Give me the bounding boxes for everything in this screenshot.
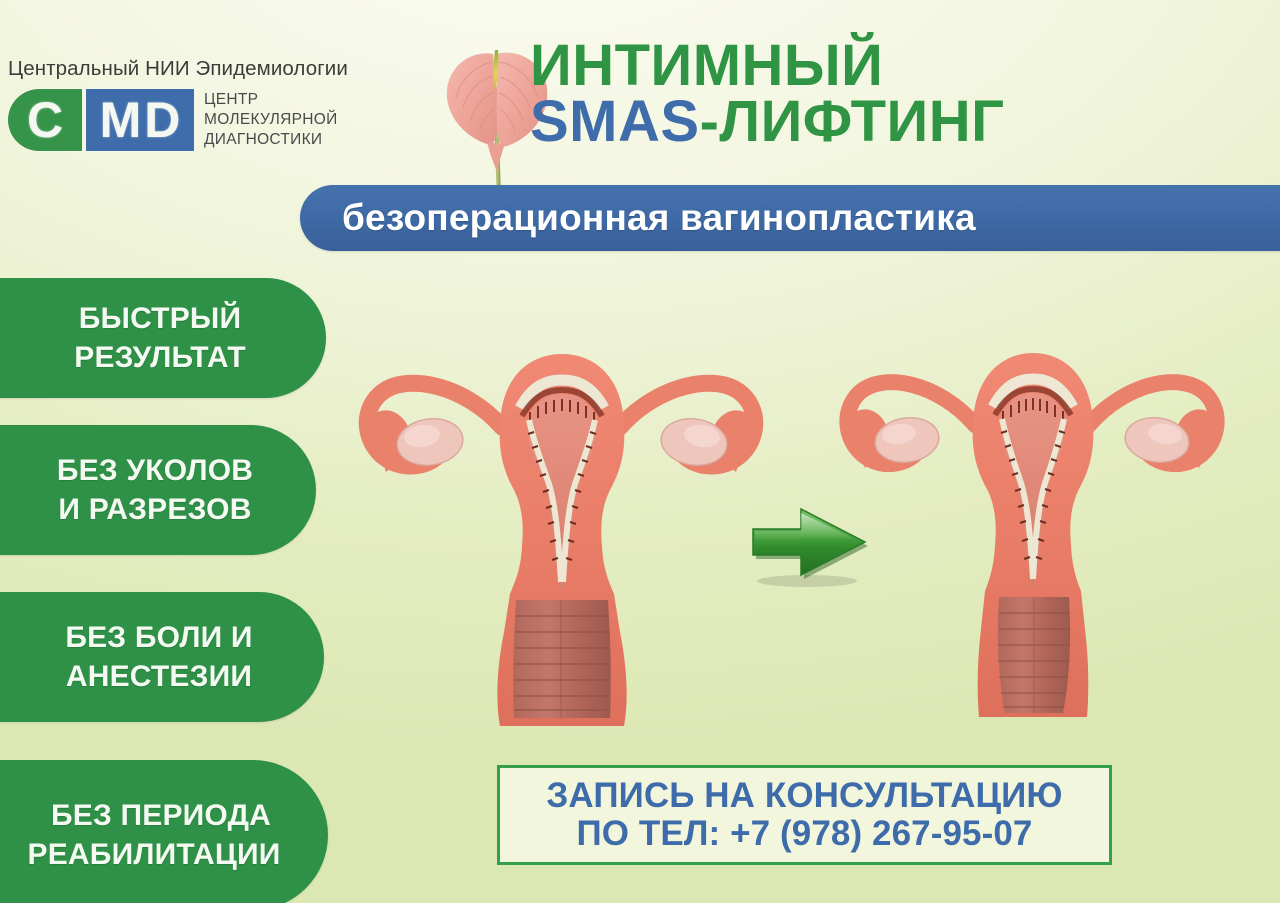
subtitle-banner-label: безоперационная вагинопластика bbox=[342, 197, 976, 239]
benefit-line: И РАЗРЕЗОВ bbox=[58, 490, 251, 529]
cmd-subtitle: ЦЕНТР МОЛЕКУЛЯРНОЙ ДИАГНОСТИКИ bbox=[204, 90, 338, 149]
cmd-logo-c-block: C bbox=[8, 89, 82, 151]
benefit-line: БЫСТРЫЙ bbox=[79, 299, 242, 338]
cmd-logo-mark: C M D bbox=[8, 89, 194, 151]
cmd-letter-d: D bbox=[144, 95, 180, 145]
benefit-pill-no-injections: БЕЗ УКОЛОВ И РАЗРЕЗОВ bbox=[0, 425, 316, 555]
headline-line-1: ИНТИМНЫЙ bbox=[530, 38, 1270, 94]
headline-lifting: -ЛИФТИНГ bbox=[700, 89, 1005, 154]
benefit-line: БЕЗ УКОЛОВ bbox=[57, 451, 253, 490]
headline-line-2: SMAS-ЛИФТИНГ bbox=[530, 94, 1270, 150]
benefit-pill-no-rehab: БЕЗ ПЕРИОДА РЕАБИЛИТАЦИИ bbox=[0, 760, 328, 903]
cmd-logo-md-block: M D bbox=[86, 89, 194, 151]
benefit-line: РЕАБИЛИТАЦИИ bbox=[28, 835, 281, 874]
benefit-line: БЕЗ БОЛИ И bbox=[65, 618, 252, 657]
page-title: ИНТИМНЫЙ SMAS-ЛИФТИНГ bbox=[530, 38, 1270, 151]
uterus-diagram-after bbox=[833, 333, 1233, 723]
cmd-letter-c: C bbox=[27, 95, 63, 145]
consultation-phone[interactable]: ПО ТЕЛ: +7 (978) 267-95-07 bbox=[577, 815, 1033, 853]
benefit-pill-fast-result: БЫСТРЫЙ РЕЗУЛЬТАТ bbox=[0, 278, 326, 398]
benefit-pill-no-pain: БЕЗ БОЛИ И АНЕСТЕЗИИ bbox=[0, 592, 324, 722]
benefit-line: РЕЗУЛЬТАТ bbox=[74, 338, 246, 377]
consultation-label: ЗАПИСЬ НА КОНСУЛЬТАЦИЮ bbox=[546, 777, 1062, 815]
cmd-subtitle-line-1: ЦЕНТР bbox=[204, 90, 338, 110]
benefit-line: АНЕСТЕЗИИ bbox=[66, 657, 252, 696]
cmd-subtitle-line-3: ДИАГНОСТИКИ bbox=[204, 130, 338, 150]
poster-root: Центральный НИИ Эпидемиологии C M D ЦЕНТ… bbox=[0, 0, 1280, 903]
cmd-logo: C M D ЦЕНТР МОЛЕКУЛЯРНОЙ ДИАГНОСТИКИ bbox=[8, 89, 408, 151]
benefit-line: БЕЗ ПЕРИОДА bbox=[51, 796, 271, 835]
institute-name: Центральный НИИ Эпидемиологии bbox=[8, 57, 408, 81]
cmd-letter-m: M bbox=[100, 95, 142, 145]
cmd-subtitle-line-2: МОЛЕКУЛЯРНОЙ bbox=[204, 110, 338, 130]
subtitle-banner: безоперационная вагинопластика bbox=[300, 185, 1280, 251]
consultation-contact-box[interactable]: ЗАПИСЬ НА КОНСУЛЬТАЦИЮ ПО ТЕЛ: +7 (978) … bbox=[497, 765, 1112, 865]
brand-block: Центральный НИИ Эпидемиологии C M D ЦЕНТ… bbox=[8, 57, 408, 151]
headline-smas: SMAS bbox=[530, 89, 700, 154]
uterus-diagram-before bbox=[352, 332, 772, 732]
